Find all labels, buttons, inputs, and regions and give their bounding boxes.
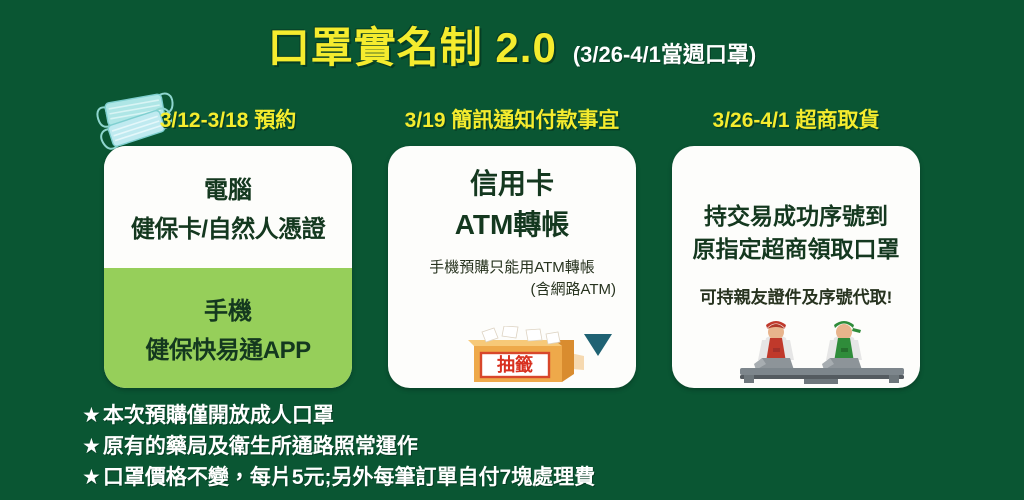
note-text: 原有的藥局及衛生所通路照常運作 — [103, 433, 418, 462]
lottery-box-icon: 抽籤 — [434, 326, 614, 388]
step-header-payment: 3/19 簡訊通知付款事宜 — [388, 92, 636, 146]
card1-top-line-1: 電腦 — [204, 170, 252, 205]
card1-top-line-2: 健保卡/自然人憑證 — [131, 209, 325, 244]
convenience-store-clerks-icon — [726, 316, 916, 384]
step-header-label-3: 3/26-4/1 超商取貨 — [713, 104, 880, 134]
card3-big-line-1: 持交易成功序號到 — [704, 200, 888, 233]
card2-note-block: 手機預購只能用ATM轉帳 (含網路ATM) — [398, 257, 626, 301]
step-column-payment: 3/19 簡訊通知付款事宜 信用卡 ATM轉帳 手機預購只能用ATM轉帳 (含網… — [388, 92, 636, 388]
step-card-reservation[interactable]: 電腦 健保卡/自然人憑證 手機 健保快易通APP — [104, 146, 352, 388]
card2-small-line-2: (含網路ATM) — [404, 279, 620, 301]
note-item: ★ 原有的藥局及衛生所通路照常運作 — [82, 433, 982, 462]
note-text: 本次預購僅開放成人口罩 — [103, 402, 334, 431]
page-title: 口罩實名制 2.0 — [268, 14, 557, 75]
notes-list: ★ 本次預購僅開放成人口罩 ★ 原有的藥局及衛生所通路照常運作 ★ 口罩價格不變… — [82, 402, 982, 493]
step-card-payment[interactable]: 信用卡 ATM轉帳 手機預購只能用ATM轉帳 (含網路ATM) — [388, 146, 636, 388]
step-header-pickup: 3/26-4/1 超商取貨 — [672, 92, 920, 146]
card1-bottom-section: 手機 健保快易通APP — [104, 268, 352, 388]
steps-columns: 3/12-3/18 預約 電腦 健保卡/自然人憑證 手機 健保快易通APP 3/… — [0, 92, 1024, 392]
lottery-label: 抽籤 — [497, 354, 533, 375]
note-item: ★ 本次預購僅開放成人口罩 — [82, 402, 982, 431]
card1-bottom-line-1: 手機 — [204, 291, 252, 326]
poster-title-row: 口罩實名制 2.0 (3/26-4/1當週口罩) — [0, 14, 1024, 75]
card3-small-line-1: 可持親友證件及序號代取! — [700, 283, 893, 308]
page-subtitle: (3/26-4/1當週口罩) — [573, 37, 756, 69]
star-icon: ★ — [82, 464, 101, 493]
card1-top-section: 電腦 健保卡/自然人憑證 — [104, 146, 352, 268]
poster-root: 口罩實名制 2.0 (3/26-4/1當週口罩) — [0, 0, 1024, 500]
step-card-pickup[interactable]: 持交易成功序號到 原指定超商領取口罩 可持親友證件及序號代取! — [672, 146, 920, 388]
step-header-label-2: 3/19 簡訊通知付款事宜 — [405, 104, 620, 134]
note-item: ★ 口罩價格不變，每片5元;另外每筆訂單自付7塊處理費 — [82, 464, 982, 493]
star-icon: ★ — [82, 433, 101, 462]
card2-small-line-1: 手機預購只能用ATM轉帳 — [404, 257, 620, 279]
card1-bottom-line-2: 健保快易通APP — [145, 330, 310, 365]
note-text: 口罩價格不變，每片5元;另外每筆訂單自付7塊處理費 — [103, 464, 595, 493]
card3-big-line-2: 原指定超商領取口罩 — [693, 233, 900, 266]
card2-big-line-2: ATM轉帳 — [455, 205, 570, 246]
star-icon: ★ — [82, 402, 101, 431]
step-header-reservation: 3/12-3/18 預約 — [104, 92, 352, 146]
card2-big-line-1: 信用卡 — [470, 164, 554, 205]
step-header-label-1: 3/12-3/18 預約 — [160, 104, 297, 134]
step-column-reservation: 3/12-3/18 預約 電腦 健保卡/自然人憑證 手機 健保快易通APP — [104, 92, 352, 388]
step-column-pickup: 3/26-4/1 超商取貨 持交易成功序號到 原指定超商領取口罩 可持親友證件及… — [672, 92, 920, 388]
